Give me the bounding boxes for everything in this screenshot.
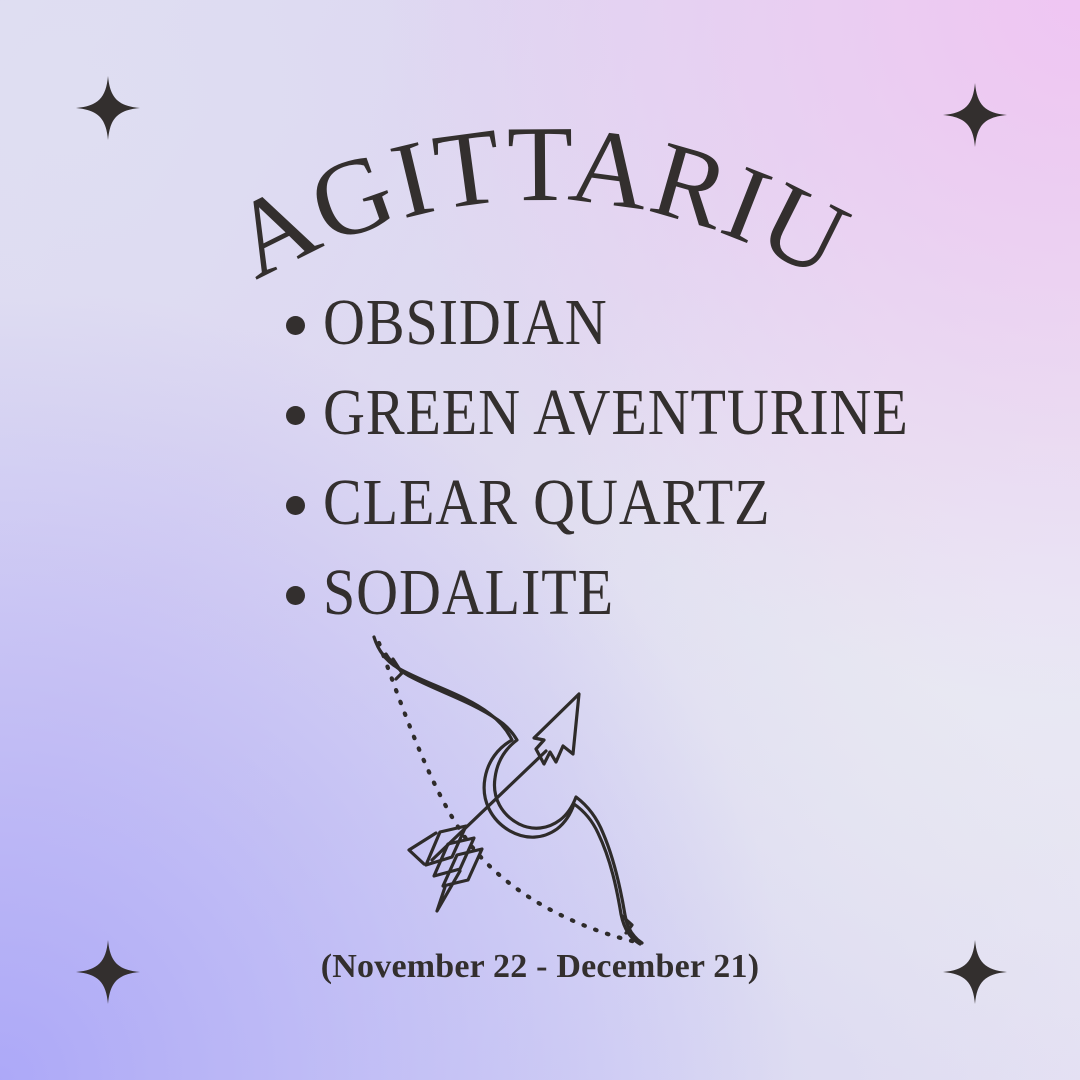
crystal-label: SODALITE (323, 560, 614, 626)
date-range: (November 22 - December 21) (0, 948, 1080, 986)
bullet-icon (286, 586, 305, 605)
sign-title-text: SAGITTARIUS (0, 17, 867, 302)
sign-title: SAGITTARIUS (0, 112, 1080, 302)
crystal-label: OBSIDIAN (323, 290, 608, 356)
list-item: GREEN AVENTURINE (286, 368, 1006, 458)
list-item: SODALITE (286, 548, 1006, 638)
crystal-label: GREEN AVENTURINE (323, 380, 909, 446)
bullet-icon (286, 316, 305, 335)
crystal-label: CLEAR QUARTZ (323, 470, 770, 536)
list-item: CLEAR QUARTZ (286, 458, 1006, 548)
crystal-list: OBSIDIAN GREEN AVENTURINE CLEAR QUARTZ S… (286, 278, 1006, 638)
list-item: OBSIDIAN (286, 278, 1006, 368)
bow-and-arrow-icon (368, 628, 678, 953)
bullet-icon (286, 406, 305, 425)
svg-text:SAGITTARIUS: SAGITTARIUS (0, 17, 867, 302)
bullet-icon (286, 496, 305, 515)
zodiac-poster: SAGITTARIUS OBSIDIAN GREEN AVENTURINE CL… (0, 0, 1080, 1080)
